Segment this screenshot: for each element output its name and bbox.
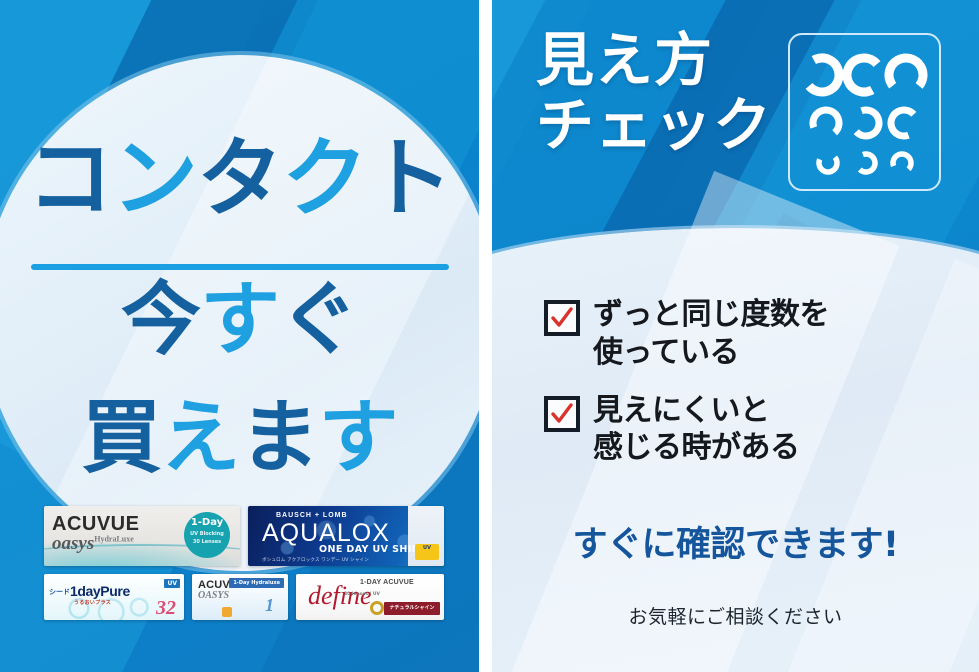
product-subbrand-text: oasys <box>52 533 94 554</box>
product-maker: BAUSCH + LOMB <box>276 512 348 519</box>
headline-char: ン <box>112 136 197 222</box>
checklist-item-label: 見えにくいと 感じる時がある <box>593 392 800 468</box>
right-panel-title: 見え方 チェック <box>536 28 772 158</box>
title-line-1: 見え方 <box>536 28 772 93</box>
checklist-item-label: ずっと同じ度数を 使っている <box>593 296 829 372</box>
headline-char: タ <box>197 136 282 222</box>
checklist-line-1: ずっと同じ度数を <box>593 296 829 334</box>
product-count: 32 <box>156 597 176 620</box>
checkbox-checked-icon[interactable] <box>544 396 580 432</box>
product-brand: 1dayPure <box>70 583 130 599</box>
product-box-define: 1-DAY ACUVUE define 30 lenses / UV ナチュラル… <box>296 574 444 620</box>
headline-kaemasu: 買えます <box>0 398 479 478</box>
product-row-bottom: シード 1dayPure UV うるおいプラス 32 ACUVUE OASYS … <box>44 574 444 620</box>
product-jp-name: シード <box>49 587 70 597</box>
product-tagline: うるおいプラス <box>74 599 111 606</box>
headline-char: す <box>200 280 279 360</box>
product-box-1day-pure: シード 1dayPure UV うるおいプラス 32 <box>44 574 184 620</box>
headline-char: コ <box>27 136 112 222</box>
badge-line3: 30 Lenses <box>184 540 230 546</box>
headline-char: ト <box>367 136 452 222</box>
checklist-line-2: 使っている <box>593 334 829 372</box>
headline-char: え <box>161 398 240 478</box>
cta-text: すぐに確認できます! <box>492 516 979 567</box>
product-fine-print: 30 lenses / UV <box>344 592 380 598</box>
checklist-line-1: 見えにくいと <box>593 392 800 430</box>
product-row-top: ACUVUE oasysHydraLuxe 1-Day UV Blocking … <box>44 506 444 566</box>
title-line-2: チェック <box>536 93 772 158</box>
checklist-item[interactable]: ずっと同じ度数を 使っている <box>544 296 944 372</box>
consultation-note: お気軽にご相談ください <box>492 602 979 629</box>
product-tag: 1-Day Hydraluxe <box>229 578 284 588</box>
product-count: 1 <box>265 595 274 616</box>
headline-underline <box>31 264 449 270</box>
right-panel: 見え方 チェック <box>492 0 979 672</box>
product-box-aqualox: BAUSCH + LOMB AQUALOX ONE DAY UV SHIN ボシ… <box>248 506 444 566</box>
product-box-acuvue-oasys-small: ACUVUE OASYS 1-Day Hydraluxe 1 <box>192 574 288 620</box>
product-badge: 1-Day UV Blocking 30 Lenses <box>184 512 230 558</box>
product-strip-label: ナチュラルシャイン <box>384 602 440 615</box>
symptom-checklist: ずっと同じ度数を 使っている 見えにくいと 感じる時がある <box>544 296 944 487</box>
lens-ring-icon <box>370 601 384 615</box>
uv-badge: UV <box>415 544 439 560</box>
headline-char: す <box>319 398 398 478</box>
uv-badge: UV <box>164 579 180 588</box>
badge-line2: UV Blocking <box>184 532 230 538</box>
checklist-item[interactable]: 見えにくいと 感じる時がある <box>544 392 944 468</box>
headline-char: ぐ <box>279 280 358 360</box>
headline-char: ク <box>282 136 367 222</box>
headline-char: 今 <box>121 280 200 360</box>
box-accent-dot <box>222 607 232 617</box>
product-subbrand: oasysHydraLuxe <box>52 533 134 555</box>
landolt-c-eye-chart-icon <box>788 33 941 191</box>
product-fine-print: ボシュロム アクアロックス ワンデー UV シャイン <box>262 557 369 563</box>
product-tagline: ONE DAY UV SHIN <box>319 544 420 555</box>
checklist-line-2: 感じる時がある <box>593 429 800 467</box>
product-subbrand: OASYS <box>198 590 229 601</box>
headline-imasugu: 今すぐ <box>0 280 479 360</box>
headline-char: ま <box>240 398 319 478</box>
promo-banner: コンタクト 今すぐ 買えます ACUVUE oasysHydraLuxe <box>0 0 979 672</box>
headline-char: 買 <box>82 398 161 478</box>
product-box-gallery: ACUVUE oasysHydraLuxe 1-Day UV Blocking … <box>44 506 444 628</box>
headline-contact: コンタクト <box>0 136 479 222</box>
product-box-acuvue-oasys: ACUVUE oasysHydraLuxe 1-Day UV Blocking … <box>44 506 240 566</box>
product-trademark: HydraLuxe <box>94 535 134 544</box>
badge-title: 1-Day <box>184 517 230 529</box>
left-panel: コンタクト 今すぐ 買えます ACUVUE oasysHydraLuxe <box>0 0 479 672</box>
checkbox-checked-icon[interactable] <box>544 300 580 336</box>
